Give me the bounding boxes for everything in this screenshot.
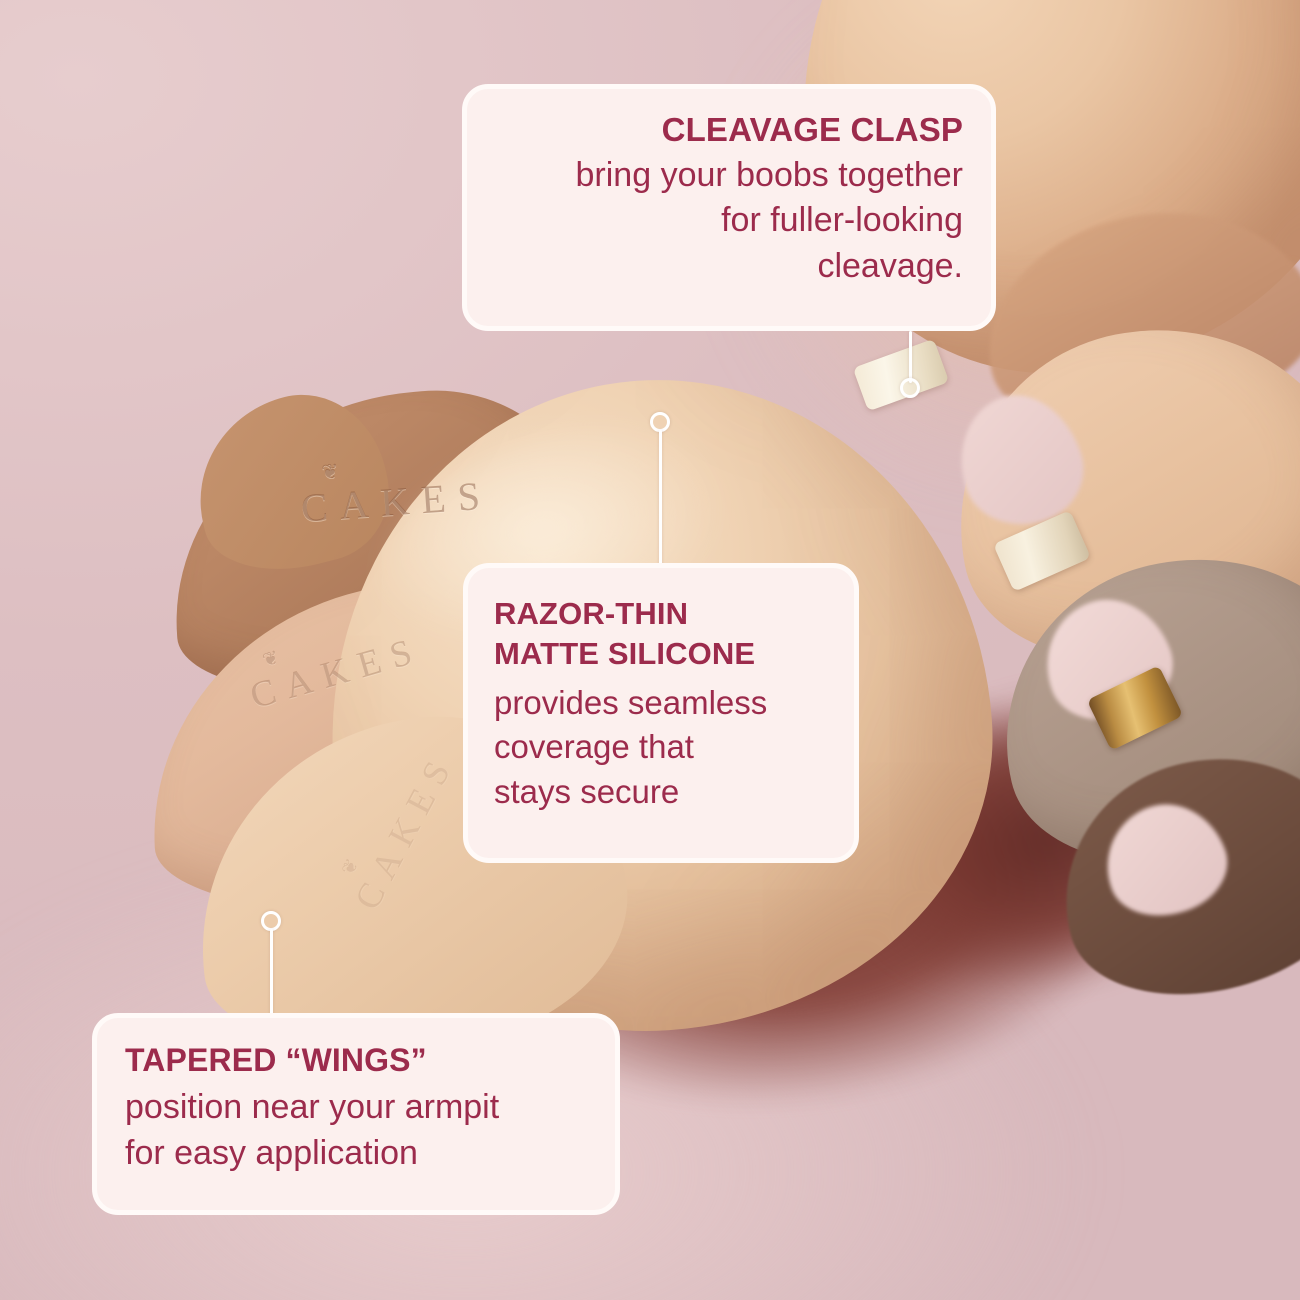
- callout-title-matte-silicone: RAZOR-THIN MATTE SILICONE: [494, 594, 828, 675]
- callout-title-cleavage-clasp: CLEAVAGE CLASP: [495, 111, 963, 149]
- callout-body-line: for fuller-looking: [495, 198, 963, 243]
- callout-title-tapered-wings: TAPERED “WINGS”: [125, 1042, 587, 1079]
- callout-title-line: MATTE SILICONE: [494, 634, 828, 674]
- connector-dot-matte-silicone: [650, 412, 670, 432]
- callout-body-tapered-wings: position near your armpit for easy appli…: [125, 1085, 587, 1176]
- callout-cleavage-clasp[interactable]: CLEAVAGE CLASP bring your boobs together…: [462, 84, 996, 331]
- callout-body-line: cleavage.: [495, 244, 963, 289]
- connector-line-matte-silicone: [659, 430, 662, 566]
- infographic-canvas: ❦ CAKES ❦ CAKES ❦ CAKES CLEAVAGE CLASP b…: [0, 0, 1300, 1300]
- callout-body-line: for easy application: [125, 1131, 587, 1177]
- callout-body-cleavage-clasp: bring your boobs together for fuller-loo…: [495, 153, 963, 289]
- connector-line-cleavage-clasp: [909, 331, 912, 383]
- connector-line-tapered-wings: [270, 929, 273, 1017]
- brand-emboss-mark-1: ❦ CAKES: [298, 448, 494, 531]
- callout-body-line: coverage that: [494, 725, 828, 770]
- callout-body-line: bring your boobs together: [495, 153, 963, 198]
- callout-body-matte-silicone: provides seamless coverage that stays se…: [494, 681, 828, 816]
- callout-body-line: stays secure: [494, 770, 828, 815]
- callout-matte-silicone[interactable]: RAZOR-THIN MATTE SILICONE provides seaml…: [463, 563, 859, 863]
- connector-dot-tapered-wings: [261, 911, 281, 931]
- connector-dot-cleavage-clasp: [900, 378, 920, 398]
- callout-tapered-wings[interactable]: TAPERED “WINGS” position near your armpi…: [92, 1013, 620, 1215]
- callout-title-line: RAZOR-THIN: [494, 594, 828, 634]
- callout-body-line: position near your armpit: [125, 1085, 587, 1131]
- callout-body-line: provides seamless: [494, 681, 828, 726]
